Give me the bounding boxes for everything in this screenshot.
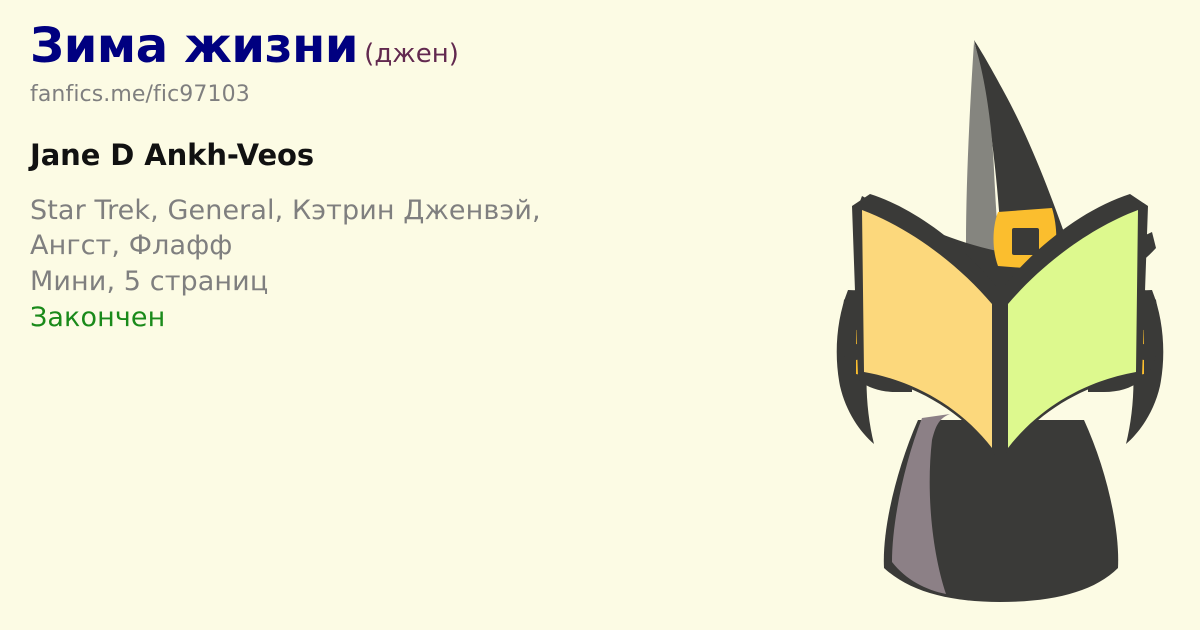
share-card: Зима жизни(джен) fanfics.me/fic97103 Jan… bbox=[0, 0, 1200, 630]
story-author[interactable]: Jane D Ankh-Veos bbox=[30, 139, 820, 172]
story-metadata: Star Trek, General, Кэтрин Дженвэй, Ангс… bbox=[30, 193, 820, 337]
page-title: Зима жизни(джен) bbox=[30, 22, 820, 70]
book-spine bbox=[996, 288, 1004, 456]
story-info-column: Зима жизни(джен) fanfics.me/fic97103 Jan… bbox=[30, 22, 820, 336]
hat-buckle-hole bbox=[1012, 228, 1039, 255]
metadata-line-size-pages: Мини, 5 страниц bbox=[30, 264, 820, 300]
story-url[interactable]: fanfics.me/fic97103 bbox=[30, 83, 820, 107]
story-title[interactable]: Зима жизни bbox=[30, 18, 358, 74]
wizard-reading-book-icon bbox=[800, 0, 1200, 630]
metadata-line-genres: Ангст, Флафф bbox=[30, 228, 820, 264]
metadata-line-fandom-rating-character: Star Trek, General, Кэтрин Дженвэй, bbox=[30, 193, 820, 229]
status-badge: Закончен bbox=[30, 300, 820, 336]
wizard-reading-book-illustration bbox=[800, 0, 1200, 630]
story-category: (джен) bbox=[364, 39, 459, 69]
